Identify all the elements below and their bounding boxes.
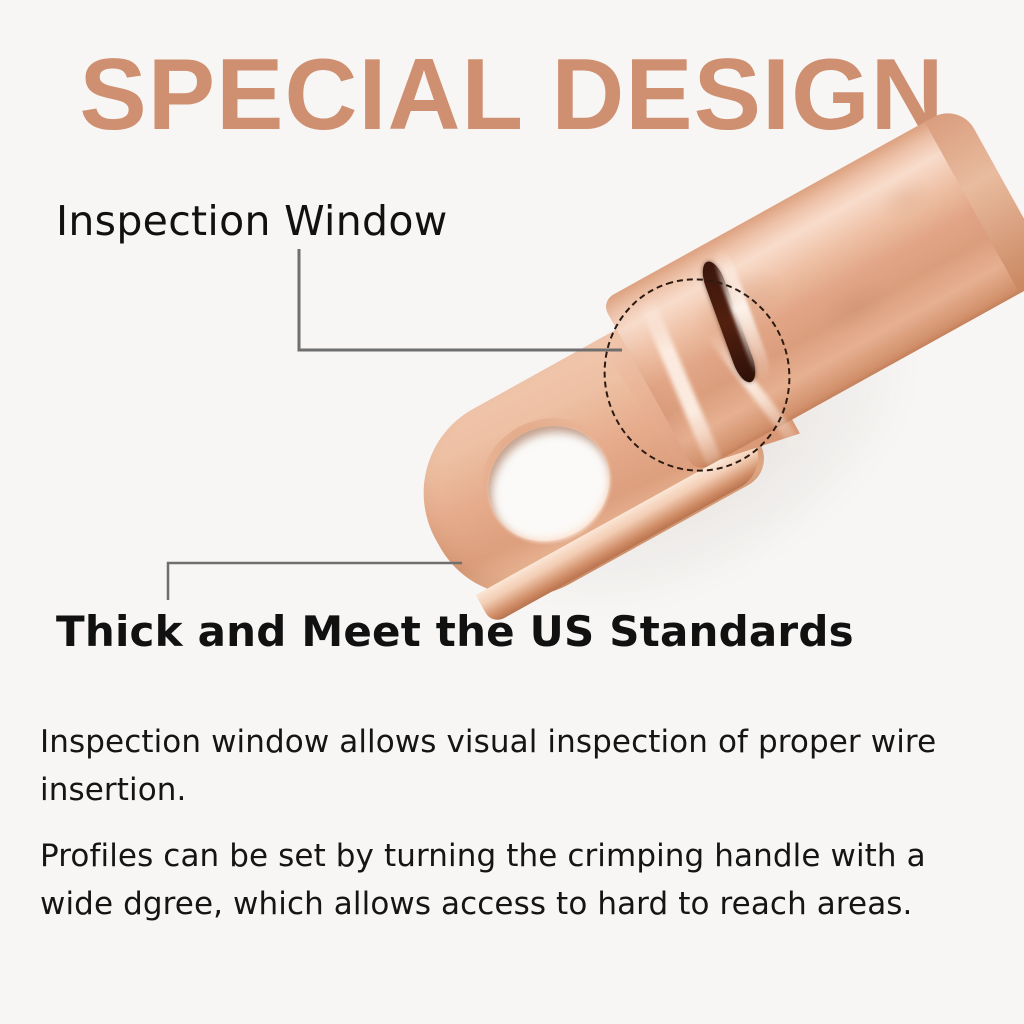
callout-label-thick-standards: Thick and Meet the US Standards bbox=[56, 607, 854, 656]
description-paragraph-1: Inspection window allows visual inspecti… bbox=[40, 718, 940, 814]
description-paragraph-2: Profiles can be set by turning the crimp… bbox=[40, 832, 940, 928]
product-infographic: SPECIAL DESIGN Inspection Window Thick a… bbox=[0, 0, 1024, 1024]
callout-label-inspection-window: Inspection Window bbox=[56, 197, 448, 245]
